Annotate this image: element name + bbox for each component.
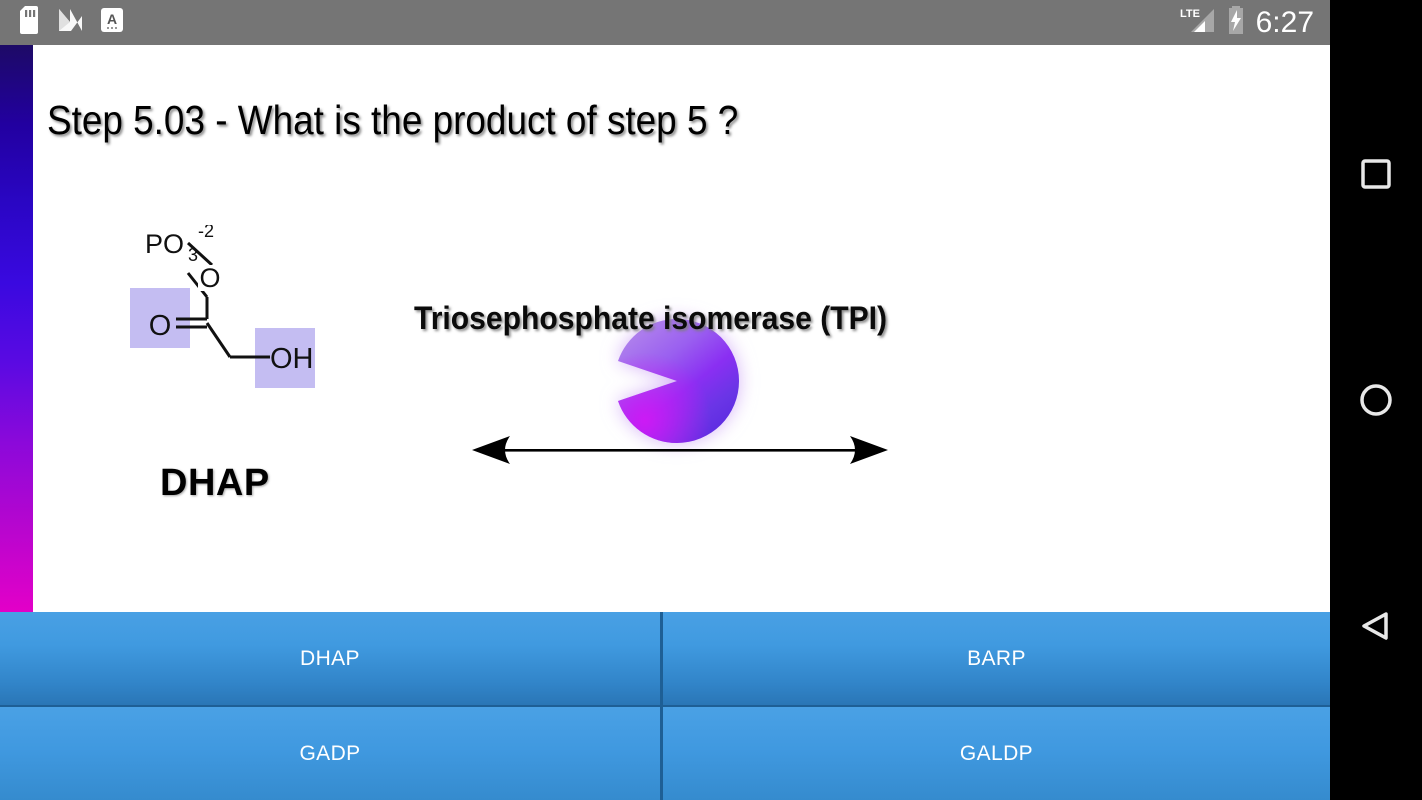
phosphate-subscript: 3 — [188, 245, 198, 265]
answer-label: GADP — [299, 742, 360, 766]
home-circle-icon[interactable] — [1330, 370, 1422, 430]
text-app-icon: A — [100, 7, 124, 38]
answer-label: DHAP — [300, 647, 360, 671]
app-screen: A LTE 6:27 Step 5.03 - What is th — [0, 0, 1422, 800]
page-title: Step 5.03 - What is the product of step … — [47, 97, 738, 144]
enzyme-label: Triosephosphate isomerase (TPI) — [414, 300, 887, 337]
back-triangle-icon[interactable] — [1330, 596, 1422, 656]
nova-launcher-icon — [58, 7, 84, 38]
sd-card-icon — [20, 6, 42, 39]
answer-button-barp[interactable]: BARP — [663, 612, 1330, 707]
svg-text:A: A — [107, 11, 117, 27]
answer-button-galdp[interactable]: GALDP — [663, 707, 1330, 800]
answer-button-dhap[interactable]: DHAP — [0, 612, 663, 707]
status-bar-notification-icons: A — [0, 6, 124, 39]
hydroxyl-label: OH — [270, 343, 314, 375]
phosphate-charge: -2 — [198, 225, 214, 241]
status-bar-system-icons: LTE 6:27 — [1178, 5, 1330, 40]
answer-button-gadp[interactable]: GADP — [0, 707, 663, 800]
recents-square-icon[interactable] — [1330, 144, 1422, 204]
ester-oxygen-label: O — [199, 263, 220, 293]
answer-button-grid: DHAP BARP GADP GALDP — [0, 612, 1330, 800]
reversible-reaction-arrow — [470, 433, 890, 471]
svg-text:LTE: LTE — [1180, 8, 1200, 20]
android-navigation-bar — [1330, 0, 1422, 800]
carbonyl-oxygen-label: O — [149, 310, 172, 342]
battery-charging-icon — [1226, 5, 1246, 40]
lte-signal-icon: LTE — [1178, 5, 1216, 40]
dhap-structure-diagram: PO 3 -2 O O OH — [110, 225, 350, 455]
android-status-bar: A LTE 6:27 — [0, 0, 1330, 45]
answer-label: BARP — [967, 647, 1026, 671]
status-bar-clock: 6:27 — [1256, 8, 1314, 38]
accent-gradient-strip — [0, 45, 33, 612]
substrate-label: DHAP — [160, 462, 270, 505]
answer-label: GALDP — [960, 742, 1033, 766]
phosphate-label: PO — [145, 229, 184, 259]
